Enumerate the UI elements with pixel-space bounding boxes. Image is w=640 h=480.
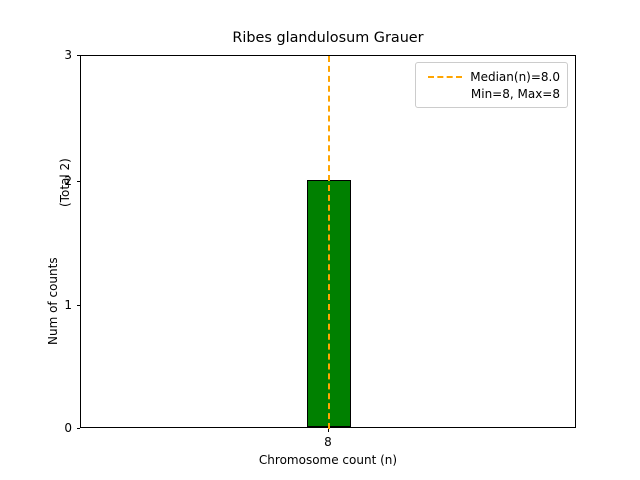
dashed-line-icon — [428, 76, 462, 78]
legend: Median(n)=8.0 Min=8, Max=8 — [415, 62, 568, 108]
legend-item-median: Median(n)=8.0 — [423, 68, 560, 85]
plot-area — [80, 55, 576, 428]
chart-figure: Ribes glandulosum Grauer 0 1 2 3 8 Chrom… — [0, 0, 640, 480]
y-axis-label-total: (Total 2) — [59, 158, 72, 207]
y-tick-mark-0 — [77, 428, 81, 429]
blank-handle-icon — [429, 93, 463, 95]
y-tick-label-0: 0 — [56, 422, 72, 434]
y-tick-label-3: 3 — [56, 49, 72, 61]
x-axis-label: Chromosome count (n) — [80, 453, 576, 468]
legend-item-minmax: Min=8, Max=8 — [423, 85, 560, 102]
legend-label-minmax: Min=8, Max=8 — [471, 87, 560, 101]
legend-label-median: Median(n)=8.0 — [470, 70, 560, 84]
x-tick-label-8: 8 — [308, 435, 348, 449]
median-line — [328, 56, 330, 429]
chart-title: Ribes glandulosum Grauer — [80, 30, 576, 47]
y-axis-label: Num of counts — [47, 257, 60, 345]
